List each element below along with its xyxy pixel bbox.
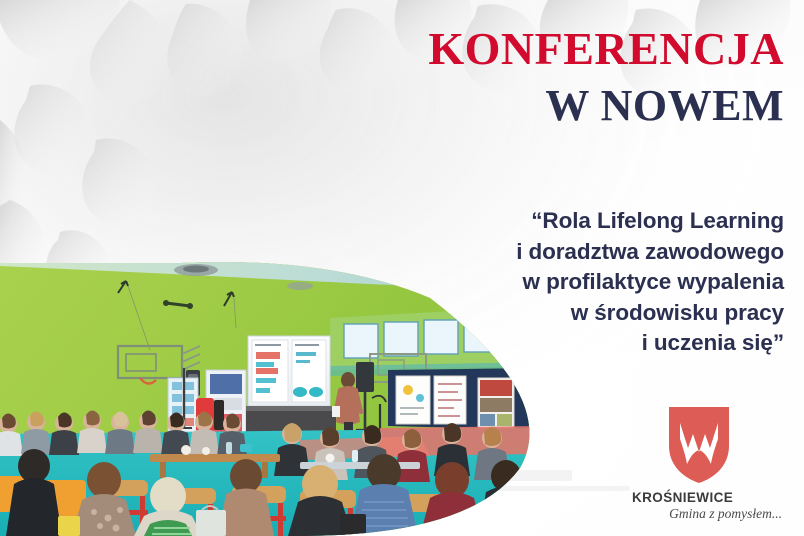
title-line-w-nowem: W NOWEM <box>324 80 784 132</box>
municipality-logo: KROŚNIEWICE Gmina z pomysłem... <box>614 406 784 522</box>
krosniewice-coat-of-arms-icon <box>668 406 730 484</box>
municipality-tagline: Gmina z pomysłem... <box>614 506 784 522</box>
conference-subject-quote: “Rola Lifelong Learning i doradztwa zawo… <box>364 206 784 359</box>
quote-line-5: i uczenia się” <box>364 328 784 359</box>
quote-line-1: “Rola Lifelong Learning <box>364 206 784 237</box>
poster-title: KONFERENCJA W NOWEM <box>324 24 784 132</box>
conference-poster: KONFERENCJA W NOWEM “Rola Lifelong Learn… <box>0 0 804 536</box>
title-line-konferencja: KONFERENCJA <box>324 24 784 74</box>
quote-line-4: w środowisku pracy <box>364 298 784 329</box>
quote-line-3: w profilaktyce wypalenia <box>364 267 784 298</box>
quote-line-2: i doradztwa zawodowego <box>364 237 784 268</box>
municipality-name: KROŚNIEWICE <box>614 490 784 505</box>
